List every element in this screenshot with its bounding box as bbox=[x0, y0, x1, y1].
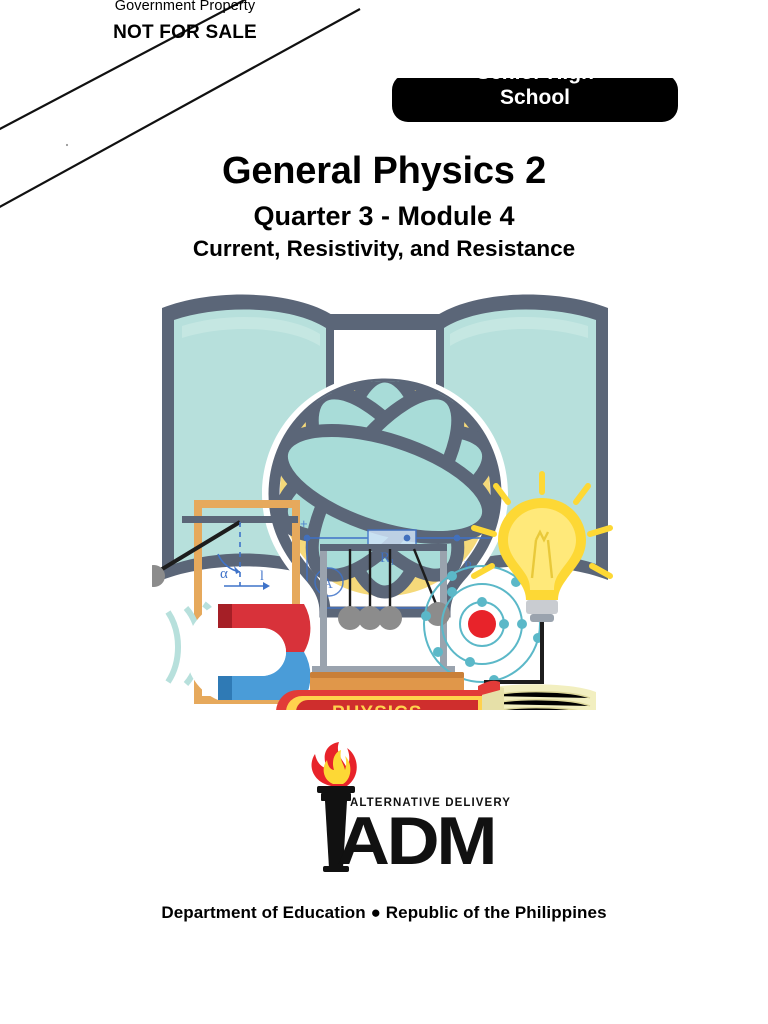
government-property-label: Government Property bbox=[0, 0, 370, 14]
circuit-label-r1: R₁ bbox=[380, 550, 395, 566]
wooden-book bbox=[310, 672, 464, 692]
physics-illustration: R₁ A R₂ R₃ + − E=mc² E=mc² α l bbox=[152, 286, 618, 710]
torch-flame-icon bbox=[312, 742, 357, 786]
module-subtitle: Quarter 3 - Module 4 bbox=[0, 201, 768, 232]
badge-top-clip-mask bbox=[386, 58, 686, 78]
page-title: General Physics 2 bbox=[0, 150, 768, 193]
footer-deped-line: Department of Education ● Republic of th… bbox=[0, 903, 768, 923]
horseshoe-magnet bbox=[186, 604, 310, 700]
adm-acronym: ADM bbox=[337, 803, 495, 872]
module-cover-page: Government Property NOT FOR SALE Senior … bbox=[0, 0, 768, 1024]
adm-logo: ALTERNATIVE DELIVERY MODE ADM bbox=[285, 742, 515, 872]
module-topic: Current, Resistivity, and Resistance bbox=[0, 236, 768, 262]
angle-alpha-label: α bbox=[220, 566, 228, 582]
badge-line-school: School bbox=[392, 85, 678, 110]
circuit-label-plus: + bbox=[300, 516, 308, 531]
not-for-sale-label: NOT FOR SALE bbox=[0, 22, 370, 44]
physics-book-label: PHYSICS bbox=[332, 703, 422, 710]
svg-text:l: l bbox=[260, 569, 264, 584]
senior-high-school-badge: Senior High School bbox=[392, 60, 678, 122]
